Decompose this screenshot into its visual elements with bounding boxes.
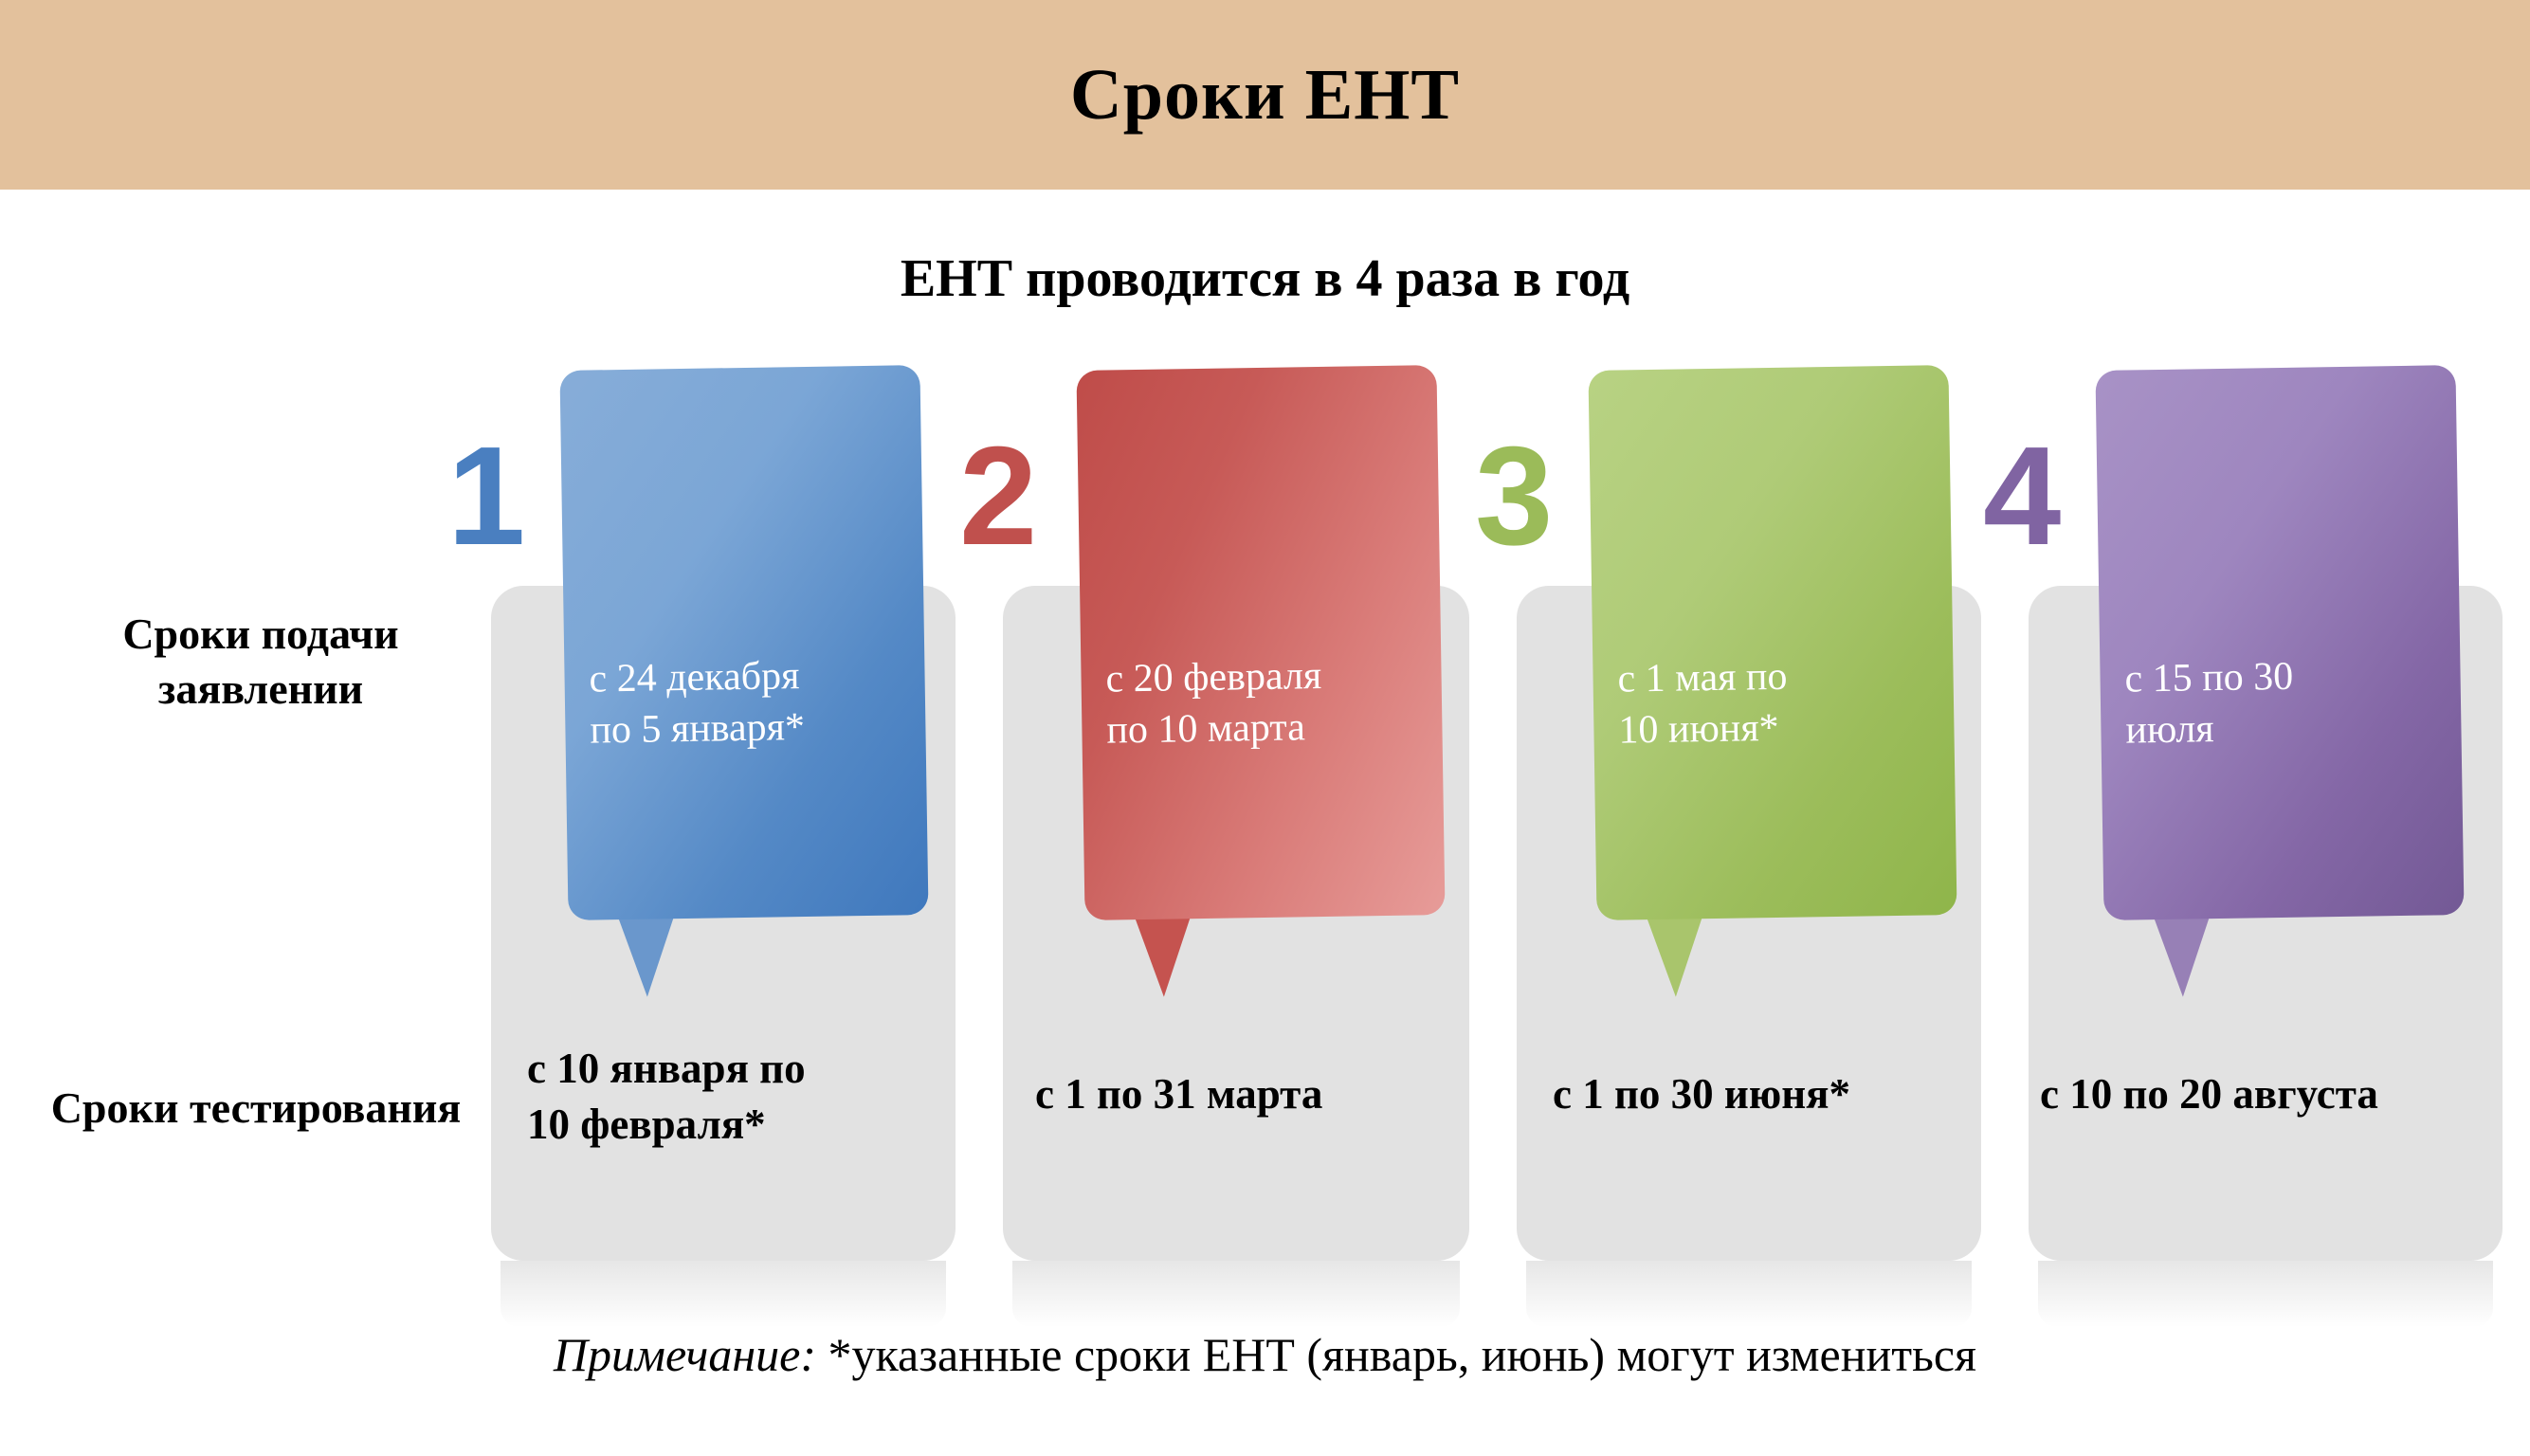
testing-dates-line1: с 10 января по [527,1041,944,1097]
application-dates-line1: с 20 февраля [1105,649,1425,705]
bubble-tail-icon [618,915,676,997]
bubble-tail-icon [1135,915,1192,997]
testing-dates-line1: с 1 по 30 июня* [1553,1066,1970,1122]
application-dates-4: с 15 по 30 июля [2124,649,2445,756]
session-number-3: 3 [1475,427,1553,567]
application-dates-2: с 20 февраля по 10 марта [1105,649,1426,756]
session-number-4: 4 [1983,427,2061,567]
session-bubble-2[interactable]: с 20 февраля по 10 марта [1076,365,1445,920]
application-dates-line2: по 5 января* [590,701,909,756]
testing-dates-line2: 10 февраля* [527,1097,944,1153]
application-dates-line2: июля [2125,701,2445,756]
application-dates-line1: с 1 мая по [1617,649,1937,705]
row-label-testing: Сроки тестирования [19,1081,493,1136]
row-label-application: Сроки подачи заявлении [38,607,483,716]
panel-shadow [501,1261,946,1327]
panel-shadow [2038,1261,2493,1327]
application-dates-3: с 1 мая по 10 июня* [1617,649,1938,756]
bubble-body [559,365,928,920]
session-bubble-3[interactable]: с 1 мая по 10 июня* [1588,365,1957,920]
testing-dates-3: с 1 по 30 июня* [1553,1066,1970,1122]
bubble-body [2095,365,2464,920]
application-dates-1: с 24 декабря по 5 января* [589,649,909,756]
session-number-1: 1 [447,427,525,567]
footnote-text: *указанные сроки ЕНТ (январь, июнь) могу… [816,1328,1976,1381]
footnote-label: Примечание: [554,1328,816,1381]
footnote: Примечание: *указанные сроки ЕНТ (январь… [0,1327,2530,1382]
testing-dates-line1: с 10 по 20 августа [2040,1066,2495,1122]
application-dates-line2: 10 июня* [1618,701,1938,756]
panel-shadow [1526,1261,1972,1327]
bubble-tail-icon [2154,915,2211,997]
session-bubble-1[interactable]: с 24 декабря по 5 января* [559,365,928,920]
testing-dates-2: с 1 по 31 марта [1035,1066,1452,1122]
bubble-tail-icon [1647,915,1704,997]
bubble-body [1588,365,1957,920]
bubble-body [1076,365,1445,920]
panel-shadow [1012,1261,1460,1327]
application-dates-line1: с 24 декабря [589,649,908,705]
testing-dates-line1: с 1 по 31 марта [1035,1066,1452,1122]
page-title: Сроки ЕНТ [0,0,2530,190]
testing-dates-1: с 10 января по 10 февраля* [527,1041,944,1152]
application-dates-line1: с 15 по 30 [2124,649,2444,705]
application-dates-line2: по 10 марта [1106,701,1426,756]
subtitle: ЕНТ проводится в 4 раза в год [0,248,2530,309]
session-number-2: 2 [959,427,1037,567]
session-bubble-4[interactable]: с 15 по 30 июля [2095,365,2464,920]
testing-dates-4: с 10 по 20 августа [2040,1066,2495,1122]
